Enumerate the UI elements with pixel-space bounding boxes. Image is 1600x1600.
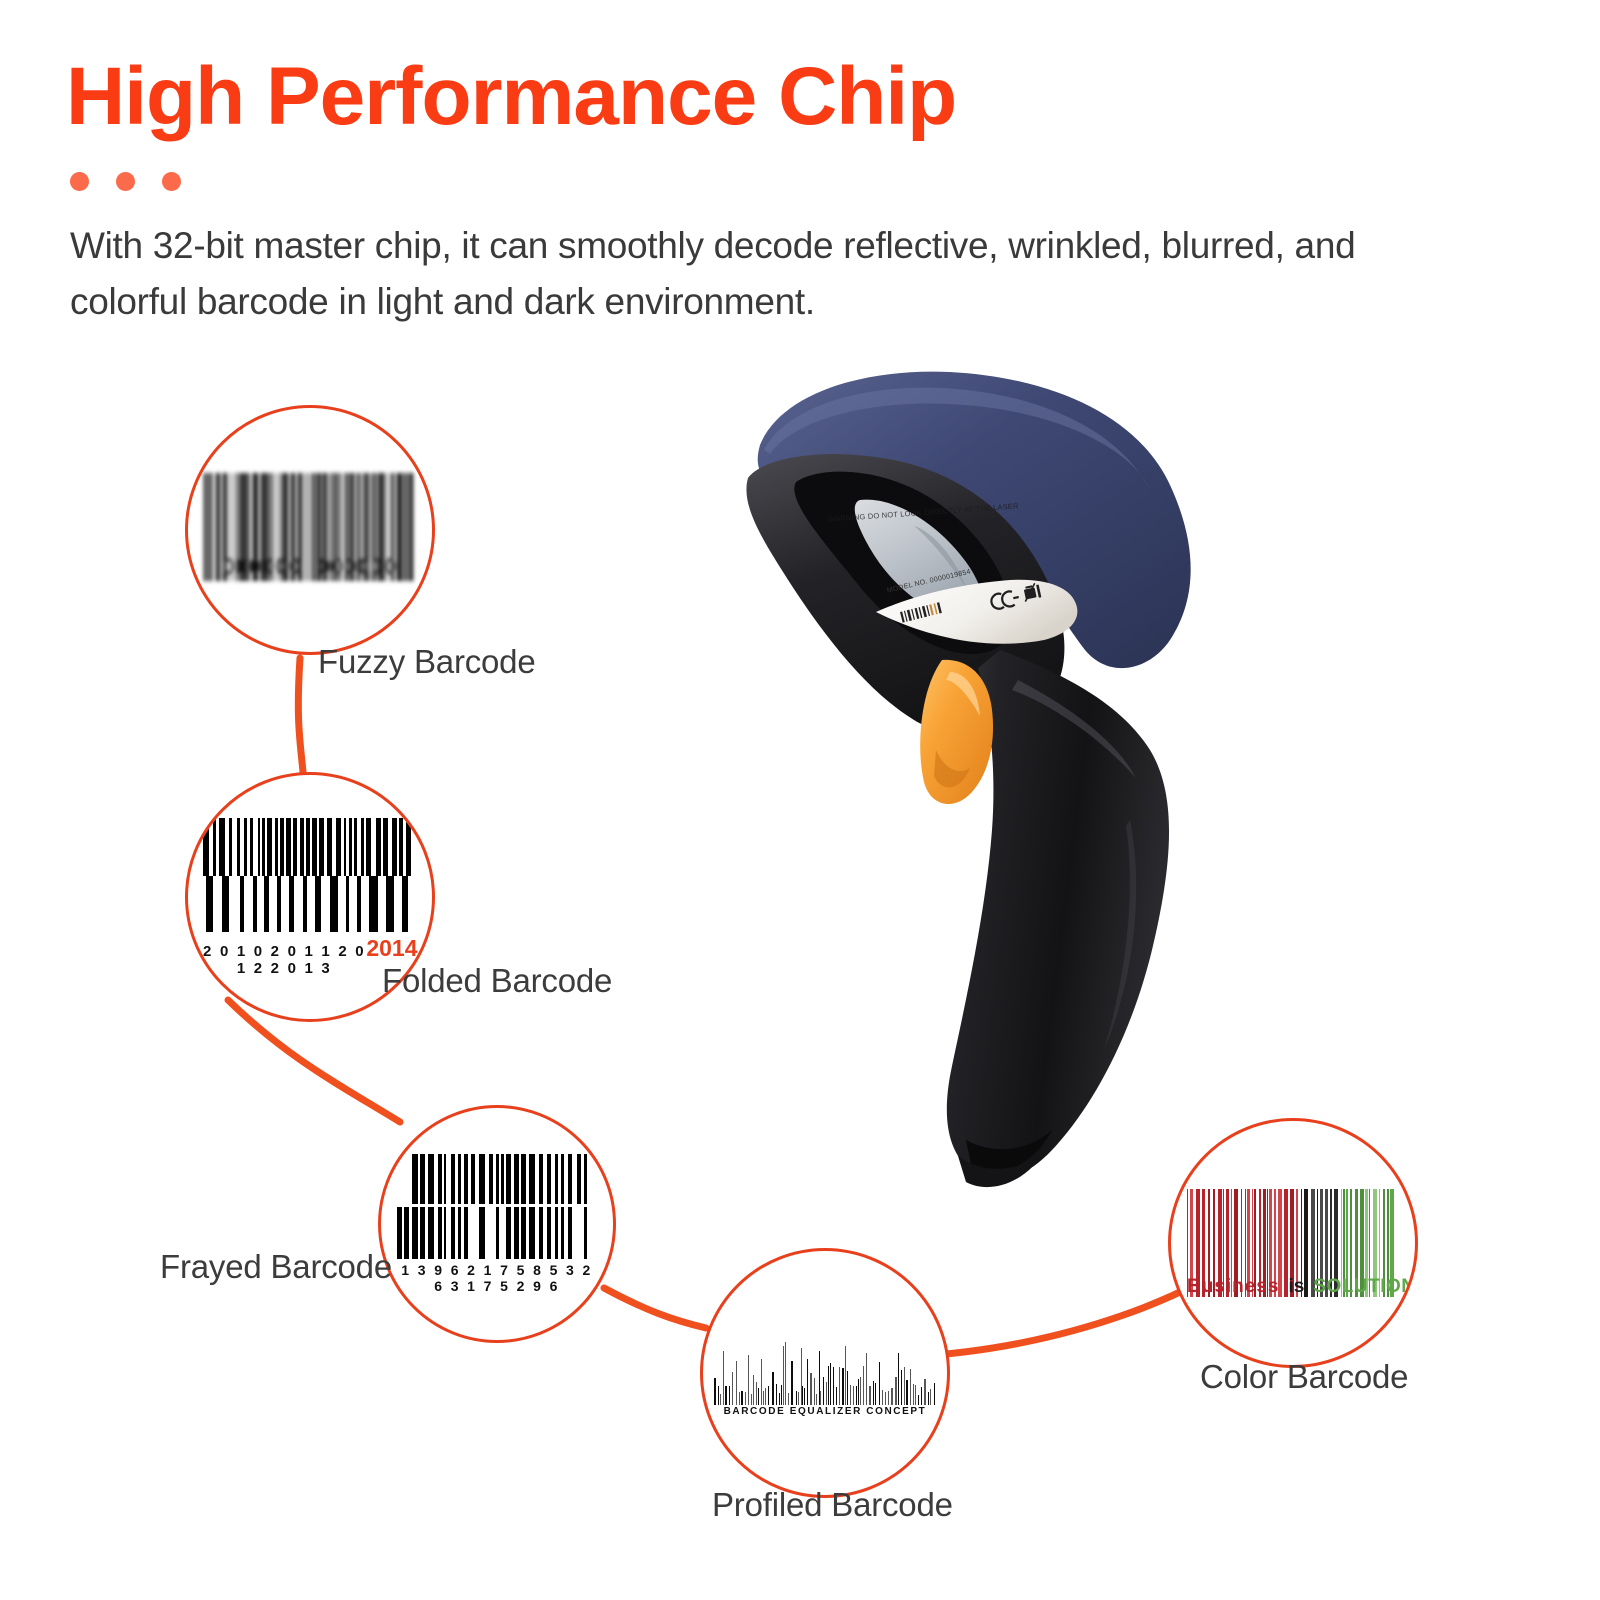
fuzzy-barcode-graphic: 000000 000000 <box>204 473 416 580</box>
folded-barcode-graphic: 2 0 1 0 2 0 1 1 2 0 1 2 2 0 1 32014 <box>203 818 418 977</box>
color-barcode-word-business: Business <box>1187 1276 1279 1298</box>
color-barcode-word-is: is <box>1288 1276 1304 1298</box>
feature-circle-fuzzy: 000000 000000 <box>185 405 435 655</box>
fuzzy-digits-right: 000000 <box>318 554 397 580</box>
frayed-barcode-graphic: 1 3 9 6 2 1 7 5 8 5 3 2 6 3 1 7 5 2 9 6 <box>397 1154 597 1294</box>
frayed-barcode-lower-bars <box>397 1204 597 1259</box>
folded-digits-highlight: 2014 <box>366 935 417 962</box>
color-barcode-text: Business is SOLUTION <box>1187 1276 1399 1298</box>
caption-frayed-barcode: Frayed Barcode <box>160 1248 392 1286</box>
color-barcode-word-solution: SOLUTION <box>1313 1276 1415 1298</box>
folded-digits-black: 2 0 1 0 2 0 1 1 2 0 1 2 2 0 1 3 <box>203 943 367 977</box>
feature-circle-profiled: BARCODE EQUALIZER CONCEPT <box>700 1248 950 1498</box>
feature-circle-frayed: 1 3 9 6 2 1 7 5 8 5 3 2 6 3 1 7 5 2 9 6 <box>378 1105 616 1343</box>
promo-page: High Performance Chip With 32-bit master… <box>0 0 1600 1600</box>
caption-color-barcode: Color Barcode <box>1200 1358 1408 1396</box>
barcode-scanner-image: WARNING DO NOT LOOK DIRECTLY AT THE LASE… <box>700 350 1260 1220</box>
fuzzy-digits-left: 000000 <box>223 554 302 580</box>
caption-fuzzy-barcode: Fuzzy Barcode <box>318 643 536 681</box>
profiled-barcode-bars <box>714 1329 936 1405</box>
frayed-barcode-upper-bars <box>397 1154 597 1204</box>
folded-barcode-upper-bars <box>203 818 418 876</box>
profiled-barcode-text: BARCODE EQUALIZER CONCEPT <box>714 1406 936 1417</box>
folded-barcode-lower-bars <box>203 876 418 932</box>
fuzzy-barcode-digits: 000000 000000 <box>204 554 416 580</box>
frayed-barcode-digits: 1 3 9 6 2 1 7 5 8 5 3 2 6 3 1 7 5 2 9 6 <box>397 1262 597 1294</box>
color-barcode-graphic: Business is SOLUTION <box>1187 1189 1399 1298</box>
caption-profiled-barcode: Profiled Barcode <box>712 1486 953 1524</box>
profiled-barcode-graphic: BARCODE EQUALIZER CONCEPT <box>714 1329 936 1417</box>
caption-folded-barcode: Folded Barcode <box>382 962 612 1000</box>
feature-circle-color: Business is SOLUTION <box>1168 1118 1418 1368</box>
